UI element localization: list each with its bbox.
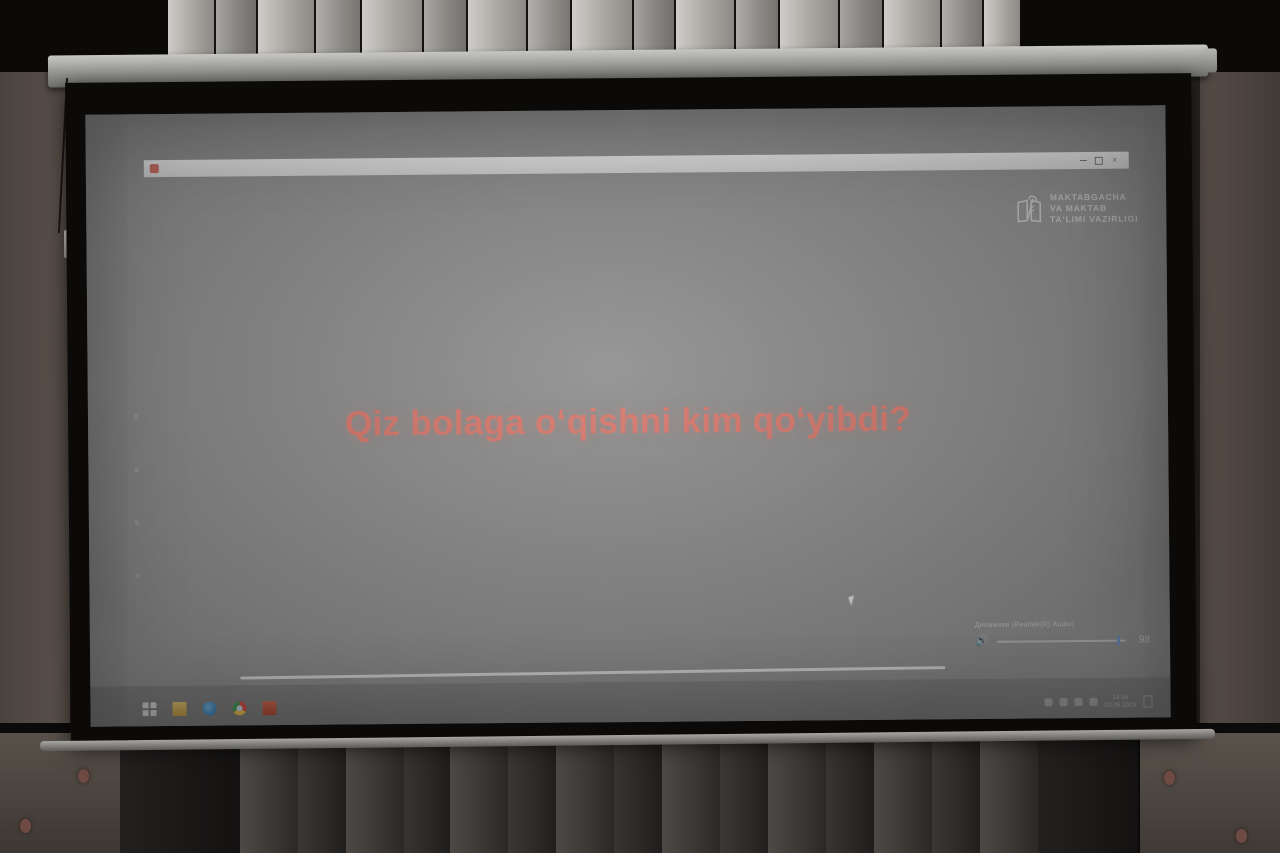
- cabinet-knob: [1236, 829, 1247, 843]
- show-desktop-button[interactable]: [1143, 695, 1152, 707]
- tray-time: 13:15: [1112, 695, 1128, 701]
- cabinet-knob: [1164, 771, 1175, 785]
- system-tray[interactable]: 13:15 03.05.2024: [1044, 693, 1152, 710]
- chrome-icon[interactable]: [232, 701, 246, 715]
- room-scene: × MAKTABGACHA VA MAKTAB TA‘LIMI VAZIRLIG…: [0, 0, 1280, 853]
- volume-slider-thumb[interactable]: [1117, 635, 1120, 645]
- volume-icon[interactable]: [1074, 698, 1082, 706]
- ministry-logo: MAKTABGACHA VA MAKTAB TA‘LIMI VAZIRLIGI: [1015, 192, 1139, 226]
- tray-date: 03.05.2024: [1104, 703, 1136, 709]
- windows-logo-icon[interactable]: [142, 702, 156, 716]
- slide-headline: Qiz bolaga o‘qishni kim qo‘yibdi?: [88, 397, 1168, 446]
- open-book-icon: [1015, 194, 1043, 224]
- volume-slider[interactable]: [997, 639, 1126, 642]
- maximize-button[interactable]: [1091, 154, 1107, 166]
- cabinet-left: [0, 733, 120, 853]
- application-title-bar[interactable]: ×: [144, 152, 1129, 178]
- edge-icon[interactable]: [202, 702, 216, 716]
- network-icon[interactable]: [1059, 698, 1067, 706]
- taskbar-top-edge: [240, 666, 945, 679]
- mouse-pointer: [848, 595, 857, 605]
- close-button[interactable]: ×: [1107, 154, 1123, 166]
- logo-line-3: TA‘LIMI VAZIRLIGI: [1050, 214, 1138, 226]
- tray-clock[interactable]: 13:15 03.05.2024: [1104, 694, 1136, 710]
- folder-icon[interactable]: [172, 702, 186, 716]
- keyboard-icon[interactable]: [1044, 698, 1052, 706]
- projected-desktop: × MAKTABGACHA VA MAKTAB TA‘LIMI VAZIRLIG…: [85, 105, 1170, 726]
- logo-line-1: MAKTABGACHA: [1050, 192, 1138, 204]
- minimize-button[interactable]: [1075, 154, 1091, 166]
- speaker-icon[interactable]: 🔊: [975, 636, 989, 647]
- housing-end-cap: [1201, 48, 1217, 72]
- cabinet-right: [1140, 733, 1280, 853]
- volume-osd[interactable]: Динамики (Realtek(R) Audio) 🔊 98: [975, 620, 1150, 647]
- powerpoint-icon: [150, 164, 159, 173]
- volume-device-label: Динамики (Realtek(R) Audio): [975, 620, 1150, 629]
- volume-value: 98: [1134, 634, 1150, 645]
- logo-line-2: VA MAKTAB: [1050, 203, 1138, 215]
- powerpoint-icon[interactable]: [262, 701, 276, 715]
- ministry-logo-text: MAKTABGACHA VA MAKTAB TA‘LIMI VAZIRLIGI: [1050, 192, 1139, 226]
- battery-icon[interactable]: [1089, 698, 1097, 706]
- cabinet-knob: [20, 819, 31, 833]
- cabinet-knob: [78, 769, 89, 783]
